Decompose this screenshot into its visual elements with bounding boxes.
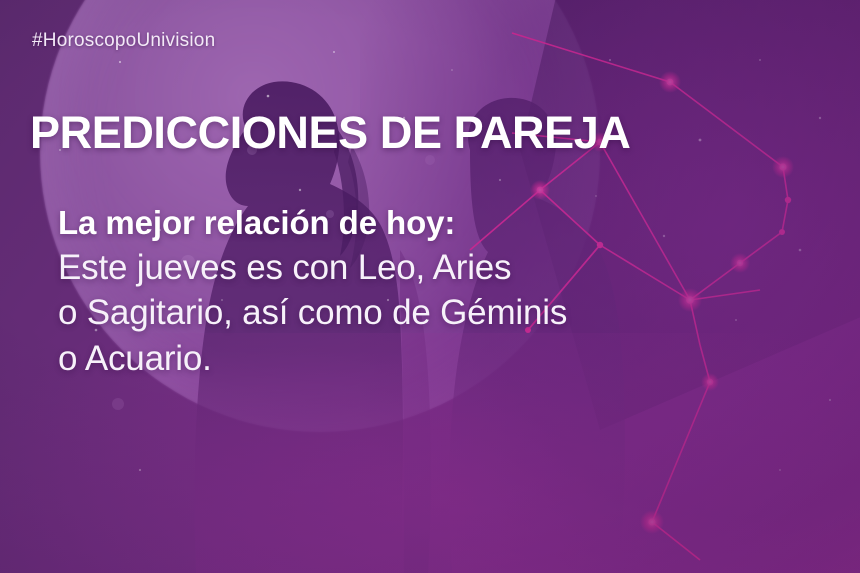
- prediction-text-block: La mejor relación de hoy: Este jueves es…: [58, 202, 838, 381]
- prediction-line-3: o Acuario.: [58, 336, 838, 382]
- page-title: PREDICCIONES DE PAREJA: [30, 110, 630, 155]
- prediction-line-2: o Sagitario, así como de Géminis: [58, 290, 838, 336]
- prediction-line-1: Este jueves es con Leo, Aries: [58, 245, 838, 291]
- prediction-lead: La mejor relación de hoy:: [58, 202, 838, 245]
- hashtag: #HoroscopoUnivision: [32, 30, 215, 52]
- horoscope-card: #HoroscopoUnivision PREDICCIONES DE PARE…: [0, 0, 860, 573]
